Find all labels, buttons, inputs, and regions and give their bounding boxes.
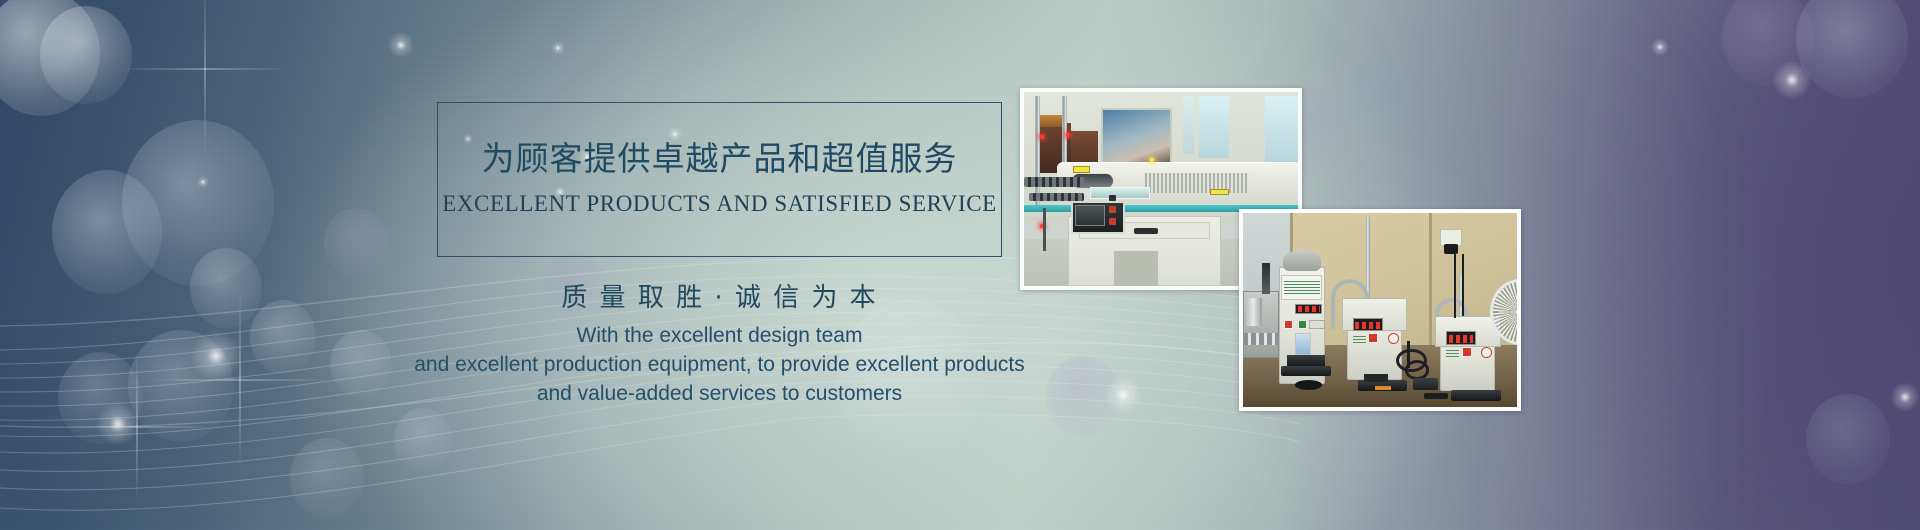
power-plug	[1444, 244, 1458, 254]
bokeh-circle	[122, 120, 274, 286]
machine-label	[1210, 189, 1229, 195]
desk-opening	[1114, 251, 1158, 286]
display-digits	[1449, 335, 1474, 343]
shelf-item	[1040, 115, 1062, 127]
conveyor-tray	[1090, 187, 1150, 199]
cable	[1043, 208, 1046, 251]
foot-pedal	[1413, 378, 1438, 390]
warning-sticker	[1481, 347, 1492, 358]
light-flare	[190, 330, 242, 382]
star-sparkle	[62, 352, 212, 502]
film-grain-overlay	[0, 0, 1920, 530]
press-head-cap	[1283, 250, 1321, 271]
machine-label	[1073, 166, 1089, 174]
photo-press-machines[interactable]	[1239, 209, 1521, 411]
bokeh-circle	[394, 408, 452, 472]
start-button	[1298, 320, 1307, 329]
paragraph-line: With the excellent design team	[337, 321, 1102, 350]
bokeh-circle	[1722, 0, 1814, 86]
orange-tag	[1375, 386, 1391, 391]
support-pole	[1035, 96, 1040, 205]
light-flare	[197, 176, 209, 188]
anvil-plate	[1287, 355, 1325, 367]
window	[1265, 96, 1298, 162]
light-flare	[1104, 376, 1142, 414]
hero-banner: 为顾客提供卓越产品和超值服务 EXCELLENT PRODUCTS AND SA…	[0, 0, 1920, 530]
drawer-handle	[1134, 228, 1159, 234]
press-anvil	[1451, 390, 1500, 402]
company-slogan: 质 量 取 胜 · 诚 信 为 本	[437, 277, 1002, 314]
dark-tool	[1424, 393, 1449, 399]
bokeh-circle	[128, 330, 234, 442]
paragraph-line: and excellent production equipment, to p…	[337, 350, 1102, 379]
fixture-post	[1262, 263, 1270, 294]
panel-button	[1109, 195, 1116, 202]
star-sparkle	[150, 290, 330, 470]
light-flare	[551, 41, 565, 55]
light-flare	[1772, 60, 1812, 100]
stop-button	[1462, 347, 1472, 357]
window	[1183, 96, 1194, 154]
cable-run	[1454, 252, 1456, 318]
light-flare	[1890, 382, 1920, 412]
warning-sticker	[1388, 333, 1399, 344]
bokeh-circle	[250, 300, 316, 374]
bokeh-circle	[1344, 60, 1418, 140]
bokeh-circle	[52, 170, 162, 294]
bokeh-circle	[190, 248, 262, 328]
bokeh-circle	[1796, 0, 1908, 98]
photo-press-machines-image	[1243, 213, 1517, 407]
rubber-pad	[1295, 380, 1322, 390]
window	[1199, 96, 1229, 158]
light-flare	[1651, 38, 1669, 56]
bokeh-circle	[290, 438, 364, 518]
cable-run	[1462, 254, 1464, 316]
blue-sticker	[1295, 333, 1311, 354]
description-paragraph: With the excellent design team and excel…	[337, 321, 1102, 408]
mirror-panel	[1101, 108, 1172, 166]
bokeh-circle	[324, 208, 388, 278]
display-digits	[1298, 306, 1320, 312]
conveyor-chain	[1024, 177, 1084, 187]
anvil-block	[1364, 374, 1389, 382]
press-anvil	[1281, 366, 1330, 376]
conveyor-chain	[1029, 193, 1084, 201]
star-sparkle	[120, 0, 290, 154]
keypad	[1309, 320, 1325, 330]
light-flare	[96, 402, 140, 446]
label-text-lines	[1284, 279, 1320, 295]
page-subtitle: EXCELLENT PRODUCTS AND SATISFIED SERVICE	[437, 191, 1002, 217]
bokeh-circle	[1806, 394, 1890, 484]
indicator-led	[1150, 158, 1154, 162]
label-text-lines	[1446, 349, 1460, 357]
bokeh-circle	[58, 352, 142, 444]
bokeh-circle	[0, 0, 100, 116]
label-text-lines	[1353, 335, 1367, 343]
page-title: 为顾客提供卓越产品和超值服务	[437, 132, 1002, 180]
display-digits	[1355, 322, 1380, 330]
machine-vent-grill	[1145, 173, 1249, 192]
stop-button	[1368, 333, 1378, 343]
fixture-rail	[1243, 333, 1279, 345]
paragraph-line: and value-added services to customers	[337, 379, 1102, 408]
bokeh-circle	[40, 6, 132, 104]
control-screen	[1075, 205, 1105, 226]
cable-run	[1407, 341, 1410, 368]
panel-button	[1109, 206, 1116, 213]
stop-button	[1284, 320, 1293, 329]
panel-button	[1109, 218, 1116, 225]
fixture-cylinder	[1246, 298, 1262, 325]
light-flare	[388, 32, 414, 58]
